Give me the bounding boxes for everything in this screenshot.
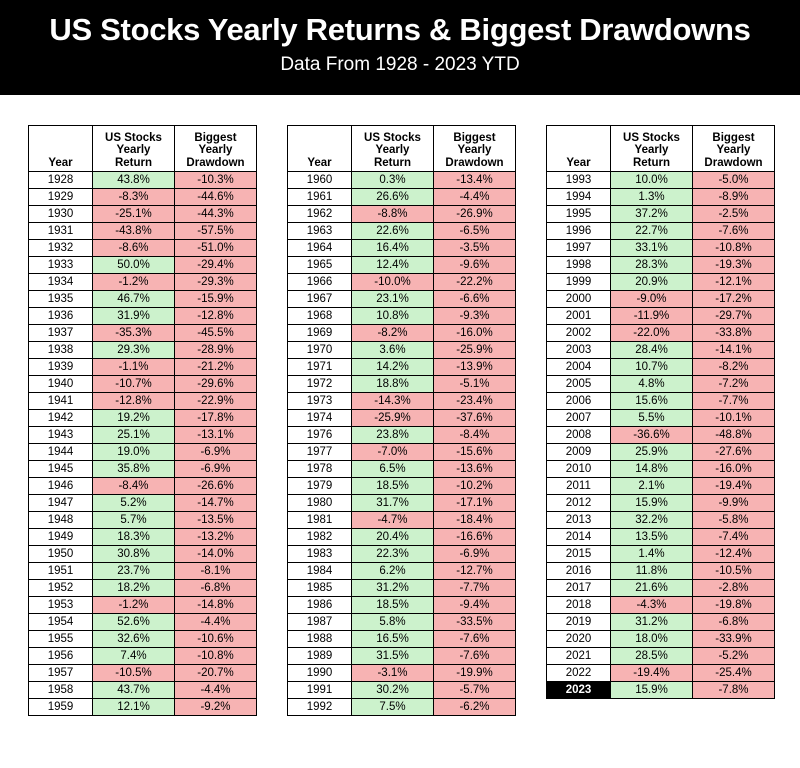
biggest-drawdown-cell: -7.6%	[434, 648, 516, 665]
table-row: 196126.6%-4.4%	[288, 189, 516, 206]
yearly-return-cell: 23.1%	[352, 291, 434, 308]
yearly-return-cell: -35.3%	[93, 325, 175, 342]
year-cell: 1952	[29, 580, 93, 597]
biggest-drawdown-cell: -20.7%	[175, 665, 257, 682]
yearly-return-cell: -8.8%	[352, 206, 434, 223]
year-cell: 2017	[547, 580, 611, 597]
year-cell: 1989	[288, 648, 352, 665]
table-row: 20054.8%-7.2%	[547, 376, 775, 393]
year-cell: 1973	[288, 393, 352, 410]
year-cell: 2012	[547, 495, 611, 512]
biggest-drawdown-cell: -45.5%	[175, 325, 257, 342]
yearly-return-cell: 1.3%	[611, 189, 693, 206]
yearly-return-cell: 18.0%	[611, 631, 693, 648]
biggest-drawdown-cell: -13.6%	[434, 461, 516, 478]
biggest-drawdown-cell: -7.6%	[693, 223, 775, 240]
yearly-return-cell: -14.3%	[352, 393, 434, 410]
year-cell: 1970	[288, 342, 352, 359]
column-header-yearly-return: US StocksYearlyReturn	[93, 126, 175, 172]
yearly-return-cell: -10.7%	[93, 376, 175, 393]
biggest-drawdown-cell: -25.4%	[693, 665, 775, 682]
biggest-drawdown-cell: -57.5%	[175, 223, 257, 240]
year-cell: 2022	[547, 665, 611, 682]
biggest-drawdown-cell: -14.0%	[175, 546, 257, 563]
table-row: 201611.8%-10.5%	[547, 563, 775, 580]
yearly-return-cell: 15.9%	[611, 495, 693, 512]
year-cell: 2010	[547, 461, 611, 478]
biggest-drawdown-cell: -21.2%	[175, 359, 257, 376]
biggest-drawdown-cell: -13.2%	[175, 529, 257, 546]
yearly-return-cell: 52.6%	[93, 614, 175, 631]
table-row: 20075.5%-10.1%	[547, 410, 775, 427]
yearly-return-cell: 18.3%	[93, 529, 175, 546]
yearly-return-cell: 18.2%	[93, 580, 175, 597]
column-header-year: Year	[29, 126, 93, 172]
table-row: 201332.2%-5.8%	[547, 512, 775, 529]
biggest-drawdown-cell: -6.9%	[175, 461, 257, 478]
column-header-biggest-drawdown: BiggestYearlyDrawdown	[434, 126, 516, 172]
yearly-return-cell: 21.6%	[611, 580, 693, 597]
biggest-drawdown-cell: -12.7%	[434, 563, 516, 580]
year-cell: 2004	[547, 359, 611, 376]
year-cell: 1971	[288, 359, 352, 376]
biggest-drawdown-cell: -13.9%	[434, 359, 516, 376]
table-row: 2002-22.0%-33.8%	[547, 325, 775, 342]
yearly-return-cell: -22.0%	[611, 325, 693, 342]
table-row: 197918.5%-10.2%	[288, 478, 516, 495]
year-cell: 1957	[29, 665, 93, 682]
biggest-drawdown-cell: -8.9%	[693, 189, 775, 206]
yearly-return-cell: 6.5%	[352, 461, 434, 478]
table-row: 1941-12.8%-22.9%	[29, 393, 257, 410]
table-row: 1929-8.3%-44.6%	[29, 189, 257, 206]
table-row: 199828.3%-19.3%	[547, 257, 775, 274]
yearly-return-cell: 16.4%	[352, 240, 434, 257]
yearly-return-cell: -12.8%	[93, 393, 175, 410]
year-cell: 1949	[29, 529, 93, 546]
yearly-return-cell: 10.8%	[352, 308, 434, 325]
yearly-return-cell: -1.2%	[93, 597, 175, 614]
year-cell: 1967	[288, 291, 352, 308]
table-row: 198931.5%-7.6%	[288, 648, 516, 665]
year-cell: 1955	[29, 631, 93, 648]
table-row: 20112.1%-19.4%	[547, 478, 775, 495]
table-row: 1931-43.8%-57.5%	[29, 223, 257, 240]
biggest-drawdown-cell: -10.3%	[175, 172, 257, 189]
biggest-drawdown-cell: -9.4%	[434, 597, 516, 614]
year-cell: 1931	[29, 223, 93, 240]
biggest-drawdown-cell: -4.4%	[175, 682, 257, 699]
biggest-drawdown-cell: -6.9%	[175, 444, 257, 461]
table-row: 198220.4%-16.6%	[288, 529, 516, 546]
biggest-drawdown-cell: -7.4%	[693, 529, 775, 546]
table-row: 200925.9%-27.6%	[547, 444, 775, 461]
year-cell: 2003	[547, 342, 611, 359]
yearly-return-cell: 11.8%	[611, 563, 693, 580]
table-row: 19941.3%-8.9%	[547, 189, 775, 206]
biggest-drawdown-cell: -18.4%	[434, 512, 516, 529]
biggest-drawdown-cell: -6.8%	[693, 614, 775, 631]
yearly-return-cell: 13.5%	[611, 529, 693, 546]
yearly-return-cell: -11.9%	[611, 308, 693, 325]
biggest-drawdown-cell: -13.4%	[434, 172, 516, 189]
yearly-return-cell: 50.0%	[93, 257, 175, 274]
table-header-row: YearUS StocksYearlyReturnBiggestYearlyDr…	[29, 126, 257, 172]
column-header-biggest-drawdown: BiggestYearlyDrawdown	[693, 126, 775, 172]
year-cell: 1937	[29, 325, 93, 342]
biggest-drawdown-cell: -6.5%	[434, 223, 516, 240]
year-cell: 1962	[288, 206, 352, 223]
year-cell: 1978	[288, 461, 352, 478]
year-cell: 1981	[288, 512, 352, 529]
yearly-return-cell: 22.3%	[352, 546, 434, 563]
yearly-returns-table: YearUS StocksYearlyReturnBiggestYearlyDr…	[287, 125, 516, 716]
yearly-return-cell: 14.2%	[352, 359, 434, 376]
year-cell: 1996	[547, 223, 611, 240]
biggest-drawdown-cell: -10.8%	[175, 648, 257, 665]
year-cell: 1995	[547, 206, 611, 223]
page-subtitle: Data From 1928 - 2023 YTD	[0, 52, 800, 78]
returns-table-block-3: YearUS StocksYearlyReturnBiggestYearlyDr…	[546, 125, 775, 699]
yearly-return-cell: 32.6%	[93, 631, 175, 648]
year-cell: 1994	[547, 189, 611, 206]
year-cell: 1992	[288, 699, 352, 716]
year-cell: 1984	[288, 563, 352, 580]
year-cell: 2016	[547, 563, 611, 580]
biggest-drawdown-cell: -10.2%	[434, 478, 516, 495]
table-row: 1937-35.3%-45.5%	[29, 325, 257, 342]
year-cell: 1966	[288, 274, 352, 291]
table-row: 19485.7%-13.5%	[29, 512, 257, 529]
table-row: 1930-25.1%-44.3%	[29, 206, 257, 223]
yearly-return-cell: 18.5%	[352, 478, 434, 495]
yearly-return-cell: 7.4%	[93, 648, 175, 665]
table-row: 200410.7%-8.2%	[547, 359, 775, 376]
table-row: 1940-10.7%-29.6%	[29, 376, 257, 393]
year-cell: 1968	[288, 308, 352, 325]
year-cell-highlighted: 2023	[547, 682, 611, 699]
yearly-return-cell: -10.5%	[93, 665, 175, 682]
yearly-return-cell: 5.2%	[93, 495, 175, 512]
yearly-return-cell: 12.1%	[93, 699, 175, 716]
table-row: 19786.5%-13.6%	[288, 461, 516, 478]
biggest-drawdown-cell: -22.2%	[434, 274, 516, 291]
year-cell: 1969	[288, 325, 352, 342]
year-cell: 1997	[547, 240, 611, 257]
biggest-drawdown-cell: -48.8%	[693, 427, 775, 444]
page-title: US Stocks Yearly Returns & Biggest Drawd…	[0, 10, 800, 50]
yearly-return-cell: 23.7%	[93, 563, 175, 580]
table-row: 201931.2%-6.8%	[547, 614, 775, 631]
yearly-return-cell: 30.2%	[352, 682, 434, 699]
biggest-drawdown-cell: -10.5%	[693, 563, 775, 580]
table-row: 198322.3%-6.9%	[288, 546, 516, 563]
table-row: 194918.3%-13.2%	[29, 529, 257, 546]
biggest-drawdown-cell: -5.1%	[434, 376, 516, 393]
biggest-drawdown-cell: -7.8%	[693, 682, 775, 699]
table-row: 198816.5%-7.6%	[288, 631, 516, 648]
biggest-drawdown-cell: -28.9%	[175, 342, 257, 359]
returns-table-block-2: YearUS StocksYearlyReturnBiggestYearlyDr…	[287, 125, 516, 716]
biggest-drawdown-cell: -10.1%	[693, 410, 775, 427]
year-cell: 1991	[288, 682, 352, 699]
table-row: 19475.2%-14.7%	[29, 495, 257, 512]
biggest-drawdown-cell: -15.6%	[434, 444, 516, 461]
table-row: 201721.6%-2.8%	[547, 580, 775, 597]
yearly-return-cell: 32.2%	[611, 512, 693, 529]
biggest-drawdown-cell: -29.7%	[693, 308, 775, 325]
year-cell: 1999	[547, 274, 611, 291]
table-row: 1962-8.8%-26.9%	[288, 206, 516, 223]
yearly-return-cell: 35.8%	[93, 461, 175, 478]
table-row: 199733.1%-10.8%	[547, 240, 775, 257]
biggest-drawdown-cell: -8.1%	[175, 563, 257, 580]
biggest-drawdown-cell: -12.1%	[693, 274, 775, 291]
column-header-year: Year	[547, 126, 611, 172]
year-cell: 1936	[29, 308, 93, 325]
year-cell: 1959	[29, 699, 93, 716]
biggest-drawdown-cell: -19.8%	[693, 597, 775, 614]
yearly-return-cell: -4.7%	[352, 512, 434, 529]
biggest-drawdown-cell: -25.9%	[434, 342, 516, 359]
year-cell: 2008	[547, 427, 611, 444]
biggest-drawdown-cell: -7.2%	[693, 376, 775, 393]
biggest-drawdown-cell: -17.1%	[434, 495, 516, 512]
biggest-drawdown-cell: -10.8%	[693, 240, 775, 257]
yearly-return-cell: 46.7%	[93, 291, 175, 308]
year-cell: 2013	[547, 512, 611, 529]
year-cell: 1961	[288, 189, 352, 206]
yearly-return-cell: 20.4%	[352, 529, 434, 546]
yearly-return-cell: -9.0%	[611, 291, 693, 308]
table-row: 195843.7%-4.4%	[29, 682, 257, 699]
yearly-return-cell: 28.4%	[611, 342, 693, 359]
year-cell: 2005	[547, 376, 611, 393]
table-row: 1981-4.7%-18.4%	[288, 512, 516, 529]
biggest-drawdown-cell: -26.9%	[434, 206, 516, 223]
year-cell: 1940	[29, 376, 93, 393]
year-cell: 1950	[29, 546, 93, 563]
yearly-return-cell: -7.0%	[352, 444, 434, 461]
year-cell: 1982	[288, 529, 352, 546]
table-row: 195452.6%-4.4%	[29, 614, 257, 631]
biggest-drawdown-cell: -23.4%	[434, 393, 516, 410]
biggest-drawdown-cell: -6.2%	[434, 699, 516, 716]
yearly-return-cell: -25.9%	[352, 410, 434, 427]
year-cell: 1944	[29, 444, 93, 461]
biggest-drawdown-cell: -9.3%	[434, 308, 516, 325]
table-row: 195218.2%-6.8%	[29, 580, 257, 597]
biggest-drawdown-cell: -14.8%	[175, 597, 257, 614]
table-row: 202018.0%-33.9%	[547, 631, 775, 648]
biggest-drawdown-cell: -13.1%	[175, 427, 257, 444]
year-cell: 2001	[547, 308, 611, 325]
year-cell: 1941	[29, 393, 93, 410]
table-row: 198031.7%-17.1%	[288, 495, 516, 512]
yearly-return-cell: -10.0%	[352, 274, 434, 291]
table-row: 19567.4%-10.8%	[29, 648, 257, 665]
table-row: 1934-1.2%-29.3%	[29, 274, 257, 291]
table-row: 194219.2%-17.8%	[29, 410, 257, 427]
table-row: 195030.8%-14.0%	[29, 546, 257, 563]
year-cell: 1953	[29, 597, 93, 614]
yearly-return-cell: 28.5%	[611, 648, 693, 665]
year-cell: 1979	[288, 478, 352, 495]
table-row: 2001-11.9%-29.7%	[547, 308, 775, 325]
table-row: 19600.3%-13.4%	[288, 172, 516, 189]
table-row: 2000-9.0%-17.2%	[547, 291, 775, 308]
yearly-return-cell: 6.2%	[352, 563, 434, 580]
year-cell: 1976	[288, 427, 352, 444]
year-cell: 1965	[288, 257, 352, 274]
table-row: 199130.2%-5.7%	[288, 682, 516, 699]
table-row: 193631.9%-12.8%	[29, 308, 257, 325]
yearly-return-cell: 16.5%	[352, 631, 434, 648]
yearly-return-cell: 19.0%	[93, 444, 175, 461]
biggest-drawdown-cell: -16.0%	[434, 325, 516, 342]
yearly-return-cell: 20.9%	[611, 274, 693, 291]
table-row: 1953-1.2%-14.8%	[29, 597, 257, 614]
table-row: 1973-14.3%-23.4%	[288, 393, 516, 410]
biggest-drawdown-cell: -8.2%	[693, 359, 775, 376]
year-cell: 2007	[547, 410, 611, 427]
yearly-return-cell: 37.2%	[611, 206, 693, 223]
biggest-drawdown-cell: -6.9%	[434, 546, 516, 563]
yearly-return-cell: -43.8%	[93, 223, 175, 240]
yearly-return-cell: 12.4%	[352, 257, 434, 274]
table-row: 193546.7%-15.9%	[29, 291, 257, 308]
biggest-drawdown-cell: -29.3%	[175, 274, 257, 291]
year-cell: 1929	[29, 189, 93, 206]
year-cell: 1935	[29, 291, 93, 308]
yearly-return-cell: 31.2%	[611, 614, 693, 631]
yearly-return-cell: -19.4%	[611, 665, 693, 682]
table-row: 1990-3.1%-19.9%	[288, 665, 516, 682]
biggest-drawdown-cell: -6.8%	[175, 580, 257, 597]
table-row: 1974-25.9%-37.6%	[288, 410, 516, 427]
yearly-return-cell: 4.8%	[611, 376, 693, 393]
table-row: 1977-7.0%-15.6%	[288, 444, 516, 461]
table-row: 2018-4.3%-19.8%	[547, 597, 775, 614]
table-row: 1932-8.6%-51.0%	[29, 240, 257, 257]
year-cell: 1963	[288, 223, 352, 240]
biggest-drawdown-cell: -9.9%	[693, 495, 775, 512]
biggest-drawdown-cell: -2.5%	[693, 206, 775, 223]
biggest-drawdown-cell: -8.4%	[434, 427, 516, 444]
biggest-drawdown-cell: -7.7%	[434, 580, 516, 597]
biggest-drawdown-cell: -12.8%	[175, 308, 257, 325]
year-cell: 2015	[547, 546, 611, 563]
table-row: 195912.1%-9.2%	[29, 699, 257, 716]
yearly-return-cell: 43.8%	[93, 172, 175, 189]
year-cell: 1932	[29, 240, 93, 257]
yearly-return-cell: -3.1%	[352, 665, 434, 682]
yearly-return-cell: 29.3%	[93, 342, 175, 359]
yearly-return-cell: 19.2%	[93, 410, 175, 427]
yearly-return-cell: 15.9%	[611, 682, 693, 699]
year-cell: 2000	[547, 291, 611, 308]
year-cell: 1956	[29, 648, 93, 665]
table-row: 197114.2%-13.9%	[288, 359, 516, 376]
biggest-drawdown-cell: -7.7%	[693, 393, 775, 410]
yearly-return-cell: 31.9%	[93, 308, 175, 325]
yearly-return-cell: 10.0%	[611, 172, 693, 189]
biggest-drawdown-cell: -14.1%	[693, 342, 775, 359]
yearly-return-cell: 1.4%	[611, 546, 693, 563]
biggest-drawdown-cell: -9.2%	[175, 699, 257, 716]
yearly-return-cell: 18.8%	[352, 376, 434, 393]
table-row: 2008-36.6%-48.8%	[547, 427, 775, 444]
table-header-row: YearUS StocksYearlyReturnBiggestYearlyDr…	[547, 126, 775, 172]
biggest-drawdown-cell: -33.9%	[693, 631, 775, 648]
yearly-return-cell: 10.7%	[611, 359, 693, 376]
biggest-drawdown-cell: -7.6%	[434, 631, 516, 648]
yearly-return-cell: -36.6%	[611, 427, 693, 444]
yearly-return-cell: -4.3%	[611, 597, 693, 614]
yearly-return-cell: 5.7%	[93, 512, 175, 529]
yearly-return-cell: -1.1%	[93, 359, 175, 376]
year-cell: 1986	[288, 597, 352, 614]
year-cell: 1933	[29, 257, 93, 274]
year-cell: 2018	[547, 597, 611, 614]
yearly-return-cell: 15.6%	[611, 393, 693, 410]
yearly-return-cell: -8.4%	[93, 478, 175, 495]
biggest-drawdown-cell: -2.8%	[693, 580, 775, 597]
year-cell: 1930	[29, 206, 93, 223]
biggest-drawdown-cell: -19.3%	[693, 257, 775, 274]
year-cell: 1943	[29, 427, 93, 444]
column-header-biggest-drawdown: BiggestYearlyDrawdown	[175, 126, 257, 172]
yearly-returns-table: YearUS StocksYearlyReturnBiggestYearlyDr…	[546, 125, 775, 699]
year-cell: 1948	[29, 512, 93, 529]
biggest-drawdown-cell: -33.8%	[693, 325, 775, 342]
table-row: 196322.6%-6.5%	[288, 223, 516, 240]
yearly-return-cell: 26.6%	[352, 189, 434, 206]
table-row: 200328.4%-14.1%	[547, 342, 775, 359]
column-header-yearly-return: US StocksYearlyReturn	[352, 126, 434, 172]
yearly-return-cell: 25.1%	[93, 427, 175, 444]
year-cell: 2006	[547, 393, 611, 410]
yearly-return-cell: -8.6%	[93, 240, 175, 257]
table-row: 199622.7%-7.6%	[547, 223, 775, 240]
table-row: 1969-8.2%-16.0%	[288, 325, 516, 342]
table-row: 195123.7%-8.1%	[29, 563, 257, 580]
year-cell: 2019	[547, 614, 611, 631]
biggest-drawdown-cell: -12.4%	[693, 546, 775, 563]
biggest-drawdown-cell: -27.6%	[693, 444, 775, 461]
year-cell: 1964	[288, 240, 352, 257]
year-cell: 2011	[547, 478, 611, 495]
table-header-row: YearUS StocksYearlyReturnBiggestYearlyDr…	[288, 126, 516, 172]
biggest-drawdown-cell: -6.6%	[434, 291, 516, 308]
yearly-return-cell: 22.6%	[352, 223, 434, 240]
yearly-return-cell: 14.8%	[611, 461, 693, 478]
biggest-drawdown-cell: -44.3%	[175, 206, 257, 223]
year-cell: 1934	[29, 274, 93, 291]
table-row: 19703.6%-25.9%	[288, 342, 516, 359]
biggest-drawdown-cell: -16.0%	[693, 461, 775, 478]
yearly-return-cell: -25.1%	[93, 206, 175, 223]
table-row: 1957-10.5%-20.7%	[29, 665, 257, 682]
table-row: 193350.0%-29.4%	[29, 257, 257, 274]
yearly-return-cell: 28.3%	[611, 257, 693, 274]
year-cell: 1977	[288, 444, 352, 461]
table-row: 201215.9%-9.9%	[547, 495, 775, 512]
biggest-drawdown-cell: -19.9%	[434, 665, 516, 682]
biggest-drawdown-cell: -51.0%	[175, 240, 257, 257]
yearly-return-cell: 7.5%	[352, 699, 434, 716]
table-row: 199920.9%-12.1%	[547, 274, 775, 291]
